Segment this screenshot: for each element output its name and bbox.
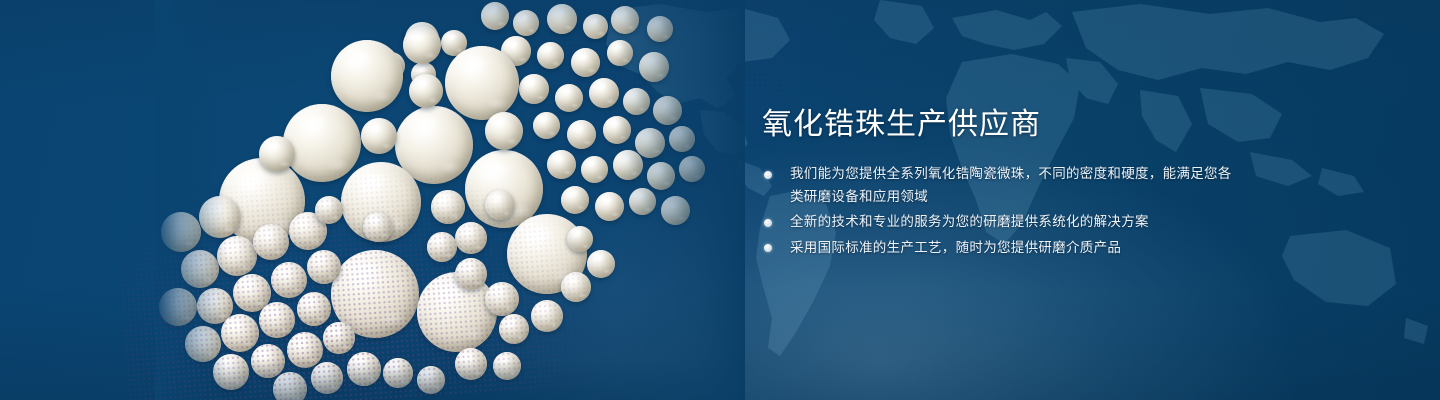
list-item: 全新的技术和专业的服务为您的研磨提供系统化的解决方案 (762, 211, 1232, 234)
product-photo-zirconia-beads (155, 0, 745, 400)
list-item-text: 全新的技术和专业的服务为您的研磨提供系统化的解决方案 (790, 214, 1149, 229)
bead-cluster (155, 0, 745, 400)
list-item-text: 我们能为您提供全系列氧化锆陶瓷微珠，不同的密度和硬度，能满足您各类研磨设备和应用… (790, 166, 1232, 204)
list-item-text: 采用国际标准的生产工艺，随时为您提供研磨介质产品 (790, 240, 1121, 255)
bullet-dot-icon (764, 219, 772, 227)
banner-copy: 氧化锆珠生产供应商 我们能为您提供全系列氧化锆陶瓷微珠，不同的密度和硬度，能满足… (762, 106, 1232, 262)
bullet-dot-icon (764, 244, 772, 252)
hero-banner: 氧化锆珠生产供应商 我们能为您提供全系列氧化锆陶瓷微珠，不同的密度和硬度，能满足… (0, 0, 1440, 400)
feature-list: 我们能为您提供全系列氧化锆陶瓷微珠，不同的密度和硬度，能满足您各类研磨设备和应用… (762, 163, 1232, 259)
bullet-dot-icon (764, 171, 772, 179)
list-item: 我们能为您提供全系列氧化锆陶瓷微珠，不同的密度和硬度，能满足您各类研磨设备和应用… (762, 163, 1232, 208)
page-title: 氧化锆珠生产供应商 (762, 106, 1232, 144)
list-item: 采用国际标准的生产工艺，随时为您提供研磨介质产品 (762, 237, 1232, 260)
